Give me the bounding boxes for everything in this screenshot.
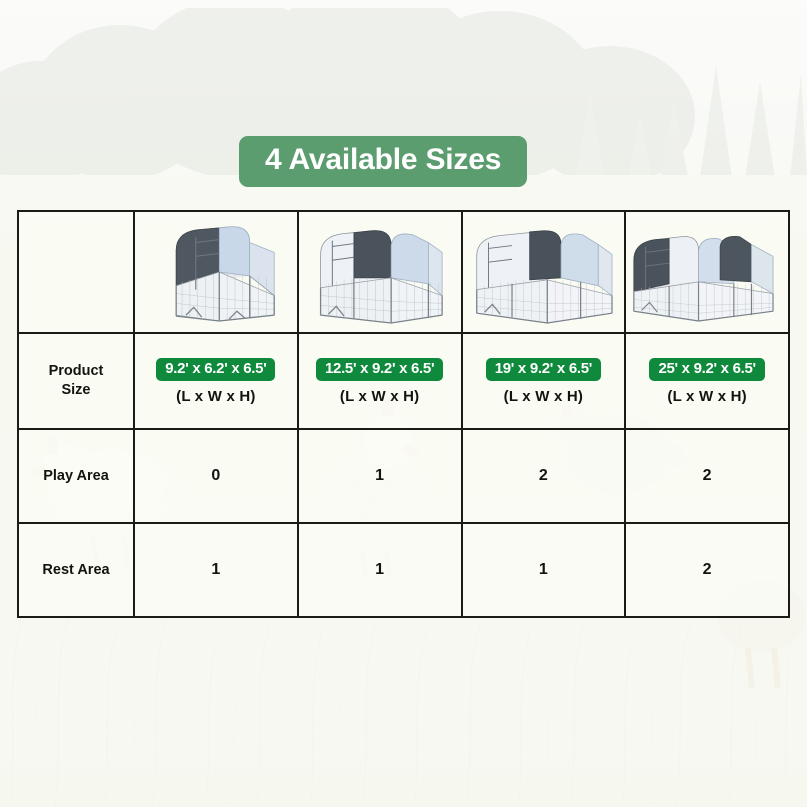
row-label-product-size-line1: Product	[20, 362, 132, 381]
play-area-value-2: 1	[375, 467, 384, 484]
table-row-rest-area: Rest Area 1 1 1 2	[18, 523, 789, 617]
product-image-cell-3	[462, 211, 626, 333]
size-pill-3: 19' x 9.2' x 6.5'	[486, 358, 601, 381]
row-label-product-size-line2: Size	[20, 381, 132, 400]
chicken-coop-small-icon	[135, 212, 297, 332]
product-size-cell-1: 9.2' x 6.2' x 6.5' (L x W x H)	[134, 333, 298, 429]
rest-area-cell-3: 1	[462, 523, 626, 617]
product-size-cell-3: 19' x 9.2' x 6.5' (L x W x H)	[462, 333, 626, 429]
product-size-cell-4: 25' x 9.2' x 6.5' (L x W x H)	[625, 333, 789, 429]
row-label-product-size: Product Size	[18, 333, 134, 429]
size-sublabel-3: (L x W x H)	[464, 388, 624, 405]
play-area-cell-3: 2	[462, 429, 626, 523]
play-area-cell-4: 2	[625, 429, 789, 523]
chicken-coop-large-icon	[463, 212, 625, 332]
rest-area-value-1: 1	[211, 561, 220, 578]
play-area-cell-1: 0	[134, 429, 298, 523]
table-row-play-area: Play Area 0 1 2 2	[18, 429, 789, 523]
play-area-value-4: 2	[703, 467, 712, 484]
product-size-cell-2: 12.5' x 9.2' x 6.5' (L x W x H)	[298, 333, 462, 429]
size-sublabel-1: (L x W x H)	[136, 388, 296, 405]
table-corner-cell	[18, 211, 134, 333]
play-area-cell-2: 1	[298, 429, 462, 523]
chicken-coop-xlarge-icon	[626, 212, 788, 332]
rest-area-value-3: 1	[539, 561, 548, 578]
play-area-value-3: 2	[539, 467, 548, 484]
size-comparison-table: Product Size 9.2' x 6.2' x 6.5' (L x W x…	[17, 210, 790, 618]
table-row-product-images	[18, 211, 789, 333]
row-label-rest-area: Rest Area	[18, 523, 134, 617]
product-image-cell-4	[625, 211, 789, 333]
play-area-value-1: 0	[211, 467, 220, 484]
rest-area-cell-2: 1	[298, 523, 462, 617]
size-sublabel-2: (L x W x H)	[300, 388, 460, 405]
size-pill-2: 12.5' x 9.2' x 6.5'	[316, 358, 443, 381]
rest-area-cell-1: 1	[134, 523, 298, 617]
product-image-cell-1	[134, 211, 298, 333]
rest-area-value-4: 2	[703, 561, 712, 578]
size-sublabel-4: (L x W x H)	[627, 388, 787, 405]
product-size-comparison-page: 4 Available Sizes	[0, 0, 807, 807]
table-row-product-size: Product Size 9.2' x 6.2' x 6.5' (L x W x…	[18, 333, 789, 429]
product-image-cell-2	[298, 211, 462, 333]
size-pill-4: 25' x 9.2' x 6.5'	[649, 358, 764, 381]
size-pill-1: 9.2' x 6.2' x 6.5'	[156, 358, 275, 381]
size-comparison-table-wrapper: Product Size 9.2' x 6.2' x 6.5' (L x W x…	[17, 210, 790, 595]
page-title-badge: 4 Available Sizes	[239, 136, 527, 187]
rest-area-cell-4: 2	[625, 523, 789, 617]
rest-area-value-2: 1	[375, 561, 384, 578]
row-label-play-area: Play Area	[18, 429, 134, 523]
chicken-coop-medium-icon	[299, 212, 461, 332]
